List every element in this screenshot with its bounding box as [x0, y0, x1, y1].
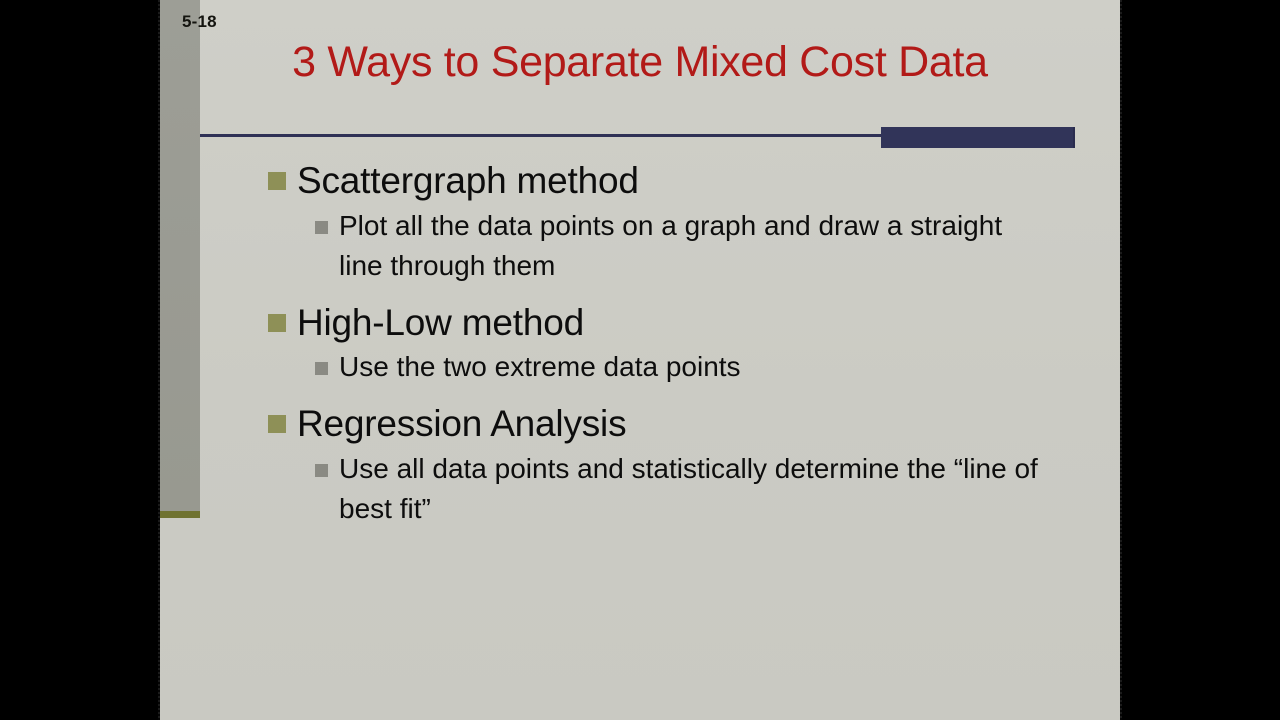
small-square-bullet-icon [315, 464, 328, 477]
slide-number: 5-18 [182, 13, 217, 30]
slide-canvas: 5-18 3 Ways to Separate Mixed Cost Data … [160, 0, 1120, 720]
bullet-level1-label: High-Low method [297, 300, 584, 346]
letterbox-right-edge [1120, 0, 1122, 720]
small-square-bullet-icon [315, 362, 328, 375]
spacer [160, 387, 1120, 401]
slide-title: 3 Ways to Separate Mixed Cost Data [200, 40, 1080, 85]
bullet-level1-row: High-Low method [160, 300, 1120, 346]
square-bullet-icon [268, 415, 286, 433]
bullet-level2-label: Use all data points and statistically de… [339, 449, 1039, 529]
small-square-bullet-icon [315, 221, 328, 234]
list-item: High-Low method Use the two extreme data… [160, 300, 1120, 402]
bullet-level2-row: Use all data points and statistically de… [160, 449, 1120, 529]
bullet-level1-row: Regression Analysis [160, 401, 1120, 447]
letterbox-left [0, 0, 160, 720]
square-bullet-icon [268, 172, 286, 190]
bullet-level2-label: Plot all the data points on a graph and … [339, 206, 1039, 286]
letterbox-right [1120, 0, 1280, 720]
bullet-list: Scattergraph method Plot all the data po… [160, 158, 1120, 529]
bullet-level2-label: Use the two extreme data points [339, 347, 741, 387]
bullet-level1-label: Scattergraph method [297, 158, 639, 204]
bullet-level1-label: Regression Analysis [297, 401, 626, 447]
title-divider-accent-block [881, 127, 1075, 148]
letterbox-left-edge [158, 0, 160, 720]
square-bullet-icon [268, 314, 286, 332]
list-item: Scattergraph method Plot all the data po… [160, 158, 1120, 300]
list-item: Regression Analysis Use all data points … [160, 401, 1120, 529]
bullet-level1-row: Scattergraph method [160, 158, 1120, 204]
bullet-level2-row: Use the two extreme data points [160, 347, 1120, 387]
spacer [160, 286, 1120, 300]
bullet-level2-row: Plot all the data points on a graph and … [160, 206, 1120, 286]
presentation-stage: 5-18 3 Ways to Separate Mixed Cost Data … [0, 0, 1280, 720]
